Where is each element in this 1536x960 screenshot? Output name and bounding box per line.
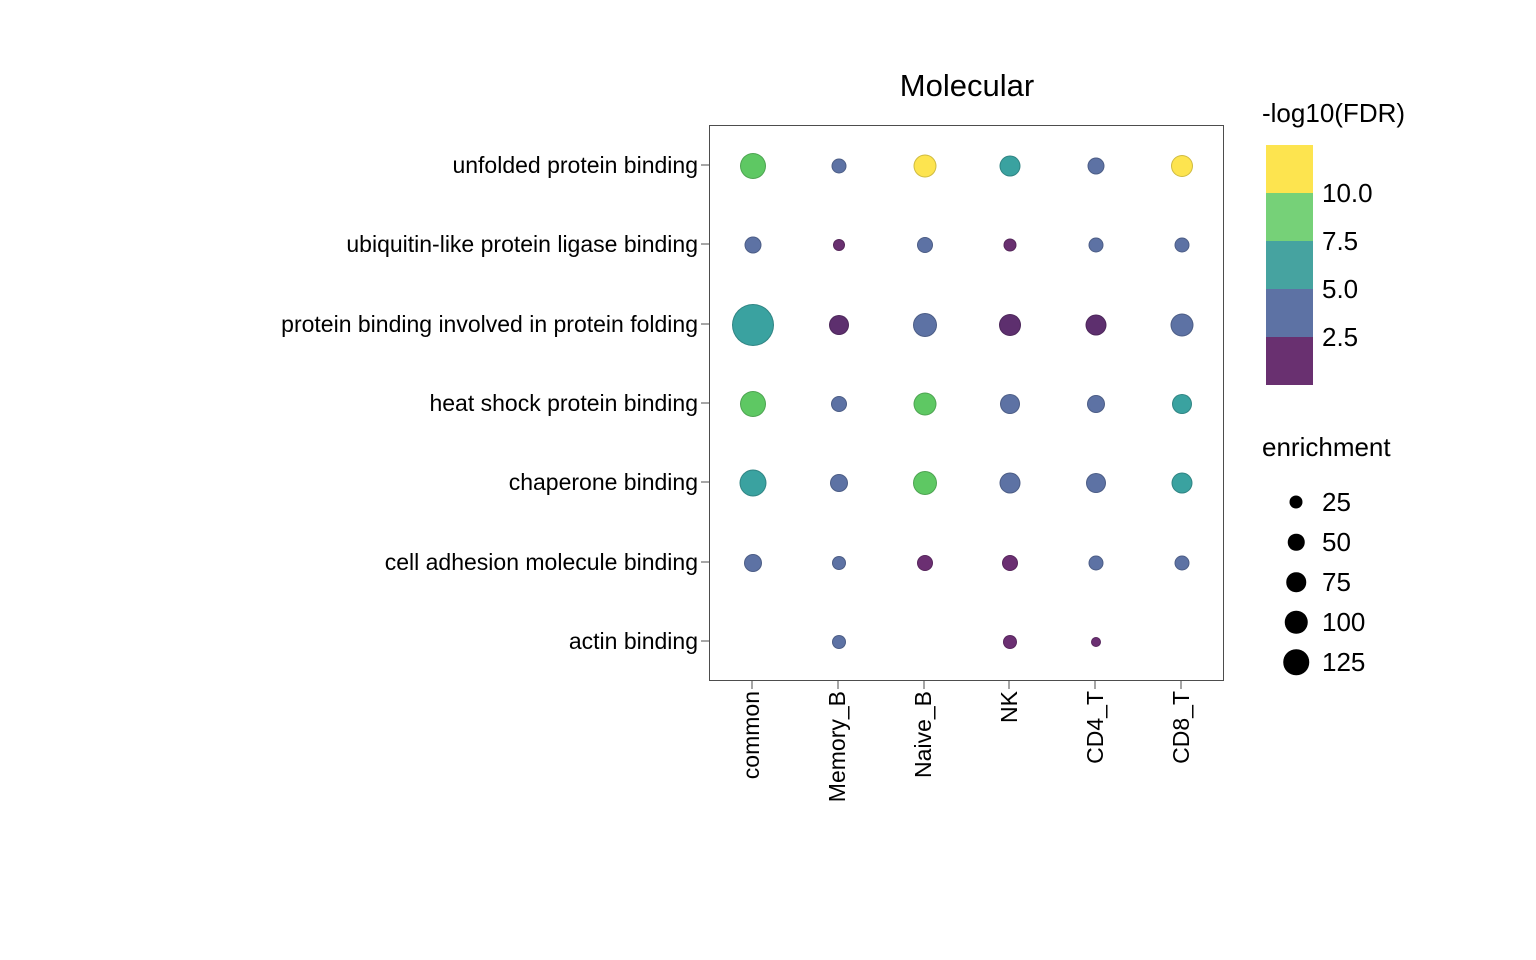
y-tick-mark <box>701 164 709 165</box>
bubble-point[interactable] <box>830 474 848 492</box>
bubble-point[interactable] <box>740 153 766 179</box>
bubble-point[interactable] <box>1000 155 1021 176</box>
color-legend: -log10(FDR) <box>1262 98 1405 128</box>
colorbar-tick-label: 10.0 <box>1322 179 1373 207</box>
bubble-point[interactable] <box>1087 395 1105 413</box>
size-legend-label: 25 <box>1322 488 1351 516</box>
bubble-point[interactable] <box>1089 238 1104 253</box>
x-tick-label: CD4_T <box>1084 691 1107 764</box>
dot-layer <box>710 126 1223 680</box>
bubble-point[interactable] <box>1171 155 1193 177</box>
x-tick-label-wrap: common <box>737 691 767 861</box>
bubble-point[interactable] <box>917 555 933 571</box>
size-legend-marker <box>1285 611 1308 634</box>
size-legend-label: 100 <box>1322 608 1365 636</box>
x-tick-label: NK <box>998 691 1021 723</box>
colorbar-band <box>1266 289 1313 337</box>
colorbar-band <box>1266 241 1313 289</box>
size-legend-title: enrichment <box>1262 432 1391 462</box>
y-tick-label: actin binding <box>569 628 698 654</box>
y-tick-mark <box>701 641 709 642</box>
bubble-point[interactable] <box>739 470 766 497</box>
y-tick-mark <box>701 561 709 562</box>
colorbar-tick-label: 5.0 <box>1322 275 1358 303</box>
size-legend-marker <box>1283 649 1309 675</box>
x-tick-mark <box>751 681 752 689</box>
bubble-point[interactable] <box>913 471 937 495</box>
y-tick-label: chaperone binding <box>509 469 698 495</box>
size-legend-row: 75 <box>1266 562 1466 602</box>
bubble-point[interactable] <box>740 391 766 417</box>
bubble-point[interactable] <box>913 393 936 416</box>
bubble-point[interactable] <box>913 313 937 337</box>
y-tick-mark <box>701 244 709 245</box>
size-legend-row: 50 <box>1266 522 1466 562</box>
bubble-point[interactable] <box>1172 394 1192 414</box>
bubble-point[interactable] <box>1000 473 1021 494</box>
y-tick-mark <box>701 323 709 324</box>
x-tick-mark <box>1009 681 1010 689</box>
bubble-point[interactable] <box>1089 555 1104 570</box>
bubble-point[interactable] <box>831 396 847 412</box>
bubble-point[interactable] <box>833 239 845 251</box>
bubble-point[interactable] <box>1091 637 1101 647</box>
x-axis-tick-marks <box>709 681 1224 691</box>
color-legend-title: -log10(FDR) <box>1262 98 1405 128</box>
x-tick-label-wrap: Memory_B <box>823 691 853 861</box>
x-tick-mark <box>1181 681 1182 689</box>
x-tick-label: Memory_B <box>826 691 849 802</box>
colorbar-band <box>1266 193 1313 241</box>
x-tick-label: Naive_B <box>912 691 935 778</box>
y-tick-mark <box>701 403 709 404</box>
bubble-point[interactable] <box>1086 314 1107 335</box>
bubble-point[interactable] <box>829 315 849 335</box>
plot-panel <box>709 125 1224 681</box>
y-tick-label: unfolded protein binding <box>452 152 698 178</box>
x-tick-label-wrap: CD4_T <box>1080 691 1110 861</box>
size-legend-marker <box>1286 572 1306 592</box>
bubble-point[interactable] <box>917 237 933 253</box>
colorbar-tick-label: 7.5 <box>1322 227 1358 255</box>
bubble-point[interactable] <box>1172 473 1193 494</box>
bubble-point[interactable] <box>1086 473 1106 493</box>
x-tick-mark <box>923 681 924 689</box>
x-tick-label-wrap: NK <box>994 691 1024 861</box>
y-tick-label: protein binding involved in protein fold… <box>281 311 698 337</box>
x-tick-label: CD8_T <box>1170 691 1193 764</box>
y-tick-label: ubiquitin-like protein ligase binding <box>346 231 698 257</box>
x-tick-mark <box>837 681 838 689</box>
y-tick-label: cell adhesion molecule binding <box>385 549 698 575</box>
bubble-point[interactable] <box>832 556 846 570</box>
x-tick-label-wrap: Naive_B <box>909 691 939 861</box>
y-tick-label: heat shock protein binding <box>429 390 698 416</box>
bubble-point[interactable] <box>1171 313 1194 336</box>
bubble-point[interactable] <box>744 237 761 254</box>
bubble-point[interactable] <box>1003 635 1017 649</box>
size-legend: enrichment <box>1262 432 1391 462</box>
color-legend-tick-labels: 10.07.55.02.5 <box>1322 145 1442 385</box>
size-legend-marker <box>1288 534 1305 551</box>
bubble-point[interactable] <box>1004 239 1017 252</box>
colorbar-band <box>1266 337 1313 385</box>
y-axis-labels: unfolded protein bindingubiquitin-like p… <box>0 125 698 681</box>
size-legend-marker <box>1290 496 1303 509</box>
x-axis-labels: commonMemory_BNaive_BNKCD4_TCD8_T <box>709 691 1224 861</box>
bubble-point[interactable] <box>732 304 774 346</box>
colorbar-band <box>1266 145 1313 193</box>
size-legend-label: 125 <box>1322 648 1365 676</box>
size-legend-label: 75 <box>1322 568 1351 596</box>
bubble-point[interactable] <box>831 158 846 173</box>
bubble-point[interactable] <box>1175 238 1190 253</box>
color-legend-colorbar <box>1266 145 1313 385</box>
bubble-point[interactable] <box>744 554 762 572</box>
y-tick-mark <box>701 482 709 483</box>
bubble-point[interactable] <box>1000 394 1020 414</box>
bubble-point[interactable] <box>1175 555 1190 570</box>
x-tick-label-wrap: CD8_T <box>1166 691 1196 861</box>
page-title: Molecular <box>709 68 1225 104</box>
bubble-point[interactable] <box>999 314 1021 336</box>
bubble-point[interactable] <box>1002 555 1018 571</box>
bubble-point[interactable] <box>832 635 846 649</box>
size-legend-label: 50 <box>1322 528 1351 556</box>
size-legend-row: 25 <box>1266 482 1466 522</box>
x-tick-label: common <box>740 691 763 779</box>
dot-plot-figure: Molecular unfolded protein bindingubiqui… <box>0 0 1536 960</box>
bubble-point[interactable] <box>913 154 936 177</box>
size-legend-row: 100 <box>1266 602 1466 642</box>
x-tick-mark <box>1095 681 1096 689</box>
colorbar-tick-label: 2.5 <box>1322 323 1358 351</box>
size-legend-row: 125 <box>1266 642 1466 682</box>
bubble-point[interactable] <box>1088 157 1105 174</box>
